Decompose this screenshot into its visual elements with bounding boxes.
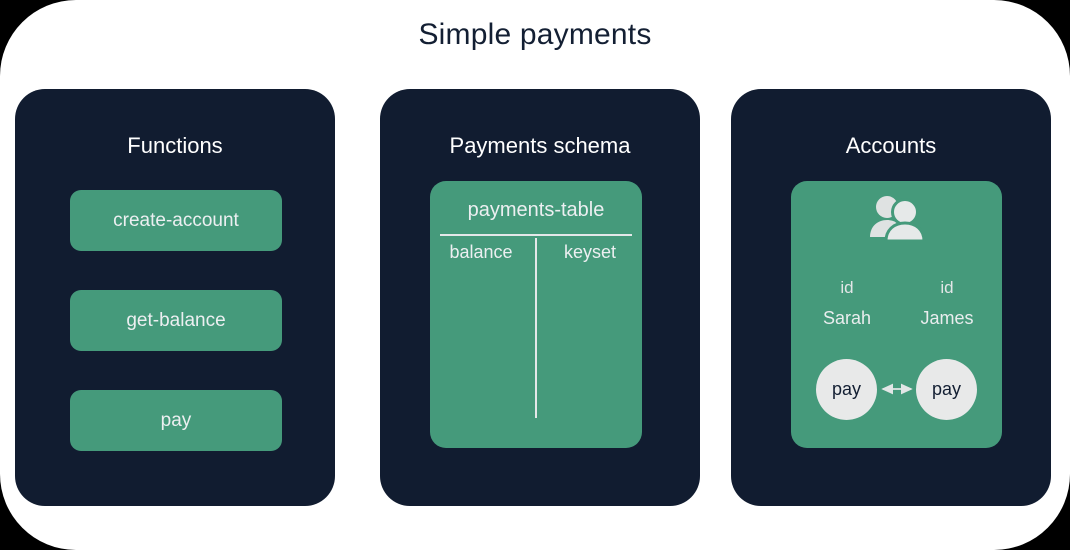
panel-functions-title: Functions (15, 133, 335, 159)
table-header-divider (440, 234, 632, 236)
accounts-card: id Sarah id James pay pay (791, 181, 1002, 448)
panel-accounts: Accounts id Sarah id James pay pay (731, 89, 1051, 506)
panel-functions: Functions create-account get-balance pay (15, 89, 335, 506)
table-column-keyset: keyset (540, 242, 640, 263)
diagram-canvas: Simple payments Functions create-account… (0, 0, 1070, 550)
panel-schema-title: Payments schema (380, 133, 700, 159)
function-button-get-balance[interactable]: get-balance (70, 290, 282, 351)
account-name-james: James (901, 308, 993, 329)
users-icon (791, 195, 1002, 241)
table-column-balance: balance (431, 242, 531, 263)
double-headed-arrow-icon (877, 377, 917, 401)
function-button-pay[interactable]: pay (70, 390, 282, 451)
pay-circle-james[interactable]: pay (916, 359, 977, 420)
pay-circle-sarah[interactable]: pay (816, 359, 877, 420)
page-title: Simple payments (0, 18, 1070, 52)
function-button-create-account[interactable]: create-account (70, 190, 282, 251)
account-id-label-sarah: id (801, 278, 893, 298)
payments-table-name: payments-table (430, 199, 642, 222)
account-id-label-james: id (901, 278, 993, 298)
account-name-sarah: Sarah (801, 308, 893, 329)
payments-table-card: payments-table balance keyset (430, 181, 642, 448)
table-column-divider (535, 238, 537, 418)
panel-payments-schema: Payments schema payments-table balance k… (380, 89, 700, 506)
panel-accounts-title: Accounts (731, 133, 1051, 159)
